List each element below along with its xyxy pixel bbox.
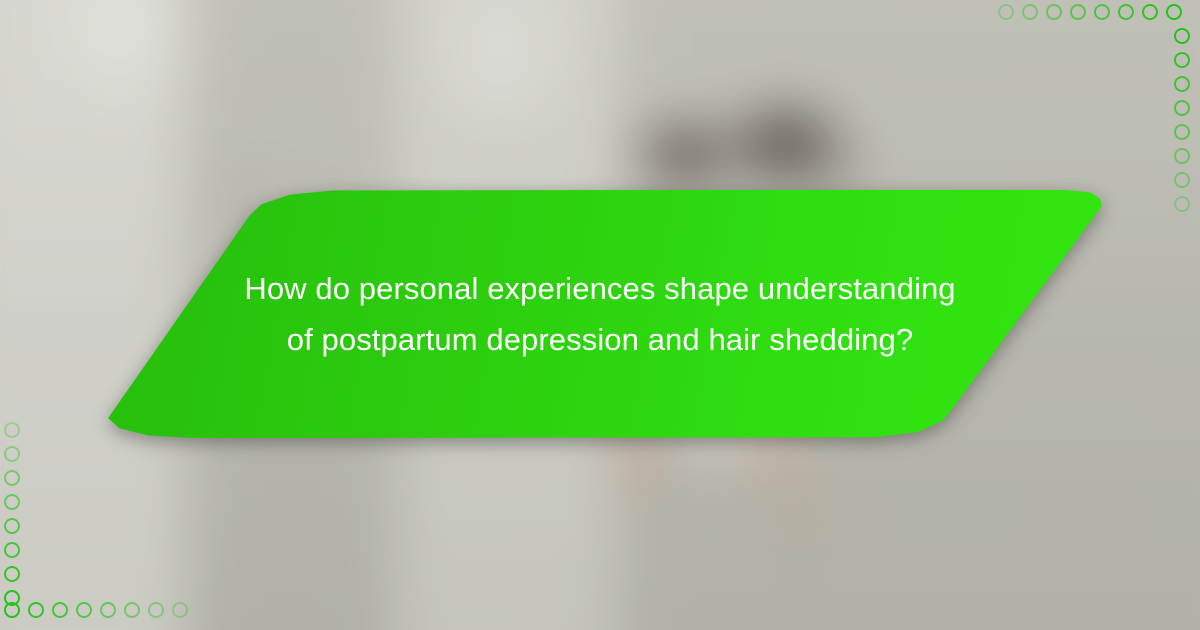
decorative-dot [1166, 4, 1182, 20]
decorative-dots-right-column [1174, 28, 1198, 208]
decorative-dot [4, 446, 20, 462]
decorative-dot [100, 602, 116, 618]
decorative-dot [28, 602, 44, 618]
decorative-dots-left-column [4, 422, 28, 602]
decorative-dot [1174, 124, 1190, 140]
decorative-dot [1174, 196, 1190, 212]
decorative-dot [172, 602, 188, 618]
question-line-1: How do personal experiences shape unders… [244, 266, 955, 311]
decorative-dot [4, 422, 20, 438]
decorative-dot [1142, 4, 1158, 20]
question-card-text: How do personal experiences shape unders… [96, 190, 1104, 438]
decorative-dot [1174, 100, 1190, 116]
decorative-dot [1118, 4, 1134, 20]
decorative-dot [52, 602, 68, 618]
slide-canvas: How do personal experiences shape unders… [0, 0, 1200, 630]
decorative-dot [4, 566, 20, 582]
decorative-dots-bottom-left [4, 602, 204, 626]
decorative-dot [4, 518, 20, 534]
question-line-2: of postpartum depression and hair sheddi… [287, 317, 913, 362]
decorative-dot [998, 4, 1014, 20]
decorative-dot [1094, 4, 1110, 20]
decorative-dot [1022, 4, 1038, 20]
decorative-dot [1070, 4, 1086, 20]
decorative-dot [4, 542, 20, 558]
decorative-dot [4, 602, 20, 618]
decorative-dot [1174, 52, 1190, 68]
decorative-dot [76, 602, 92, 618]
decorative-dot [124, 602, 140, 618]
decorative-dot [1174, 148, 1190, 164]
decorative-dot [1174, 172, 1190, 188]
decorative-dot [4, 494, 20, 510]
decorative-dot [4, 470, 20, 486]
decorative-dot [1174, 28, 1190, 44]
decorative-dot [1174, 76, 1190, 92]
question-card: How do personal experiences shape unders… [96, 190, 1104, 438]
decorative-dot [148, 602, 164, 618]
decorative-dots-top-right [998, 4, 1198, 28]
decorative-dot [1046, 4, 1062, 20]
